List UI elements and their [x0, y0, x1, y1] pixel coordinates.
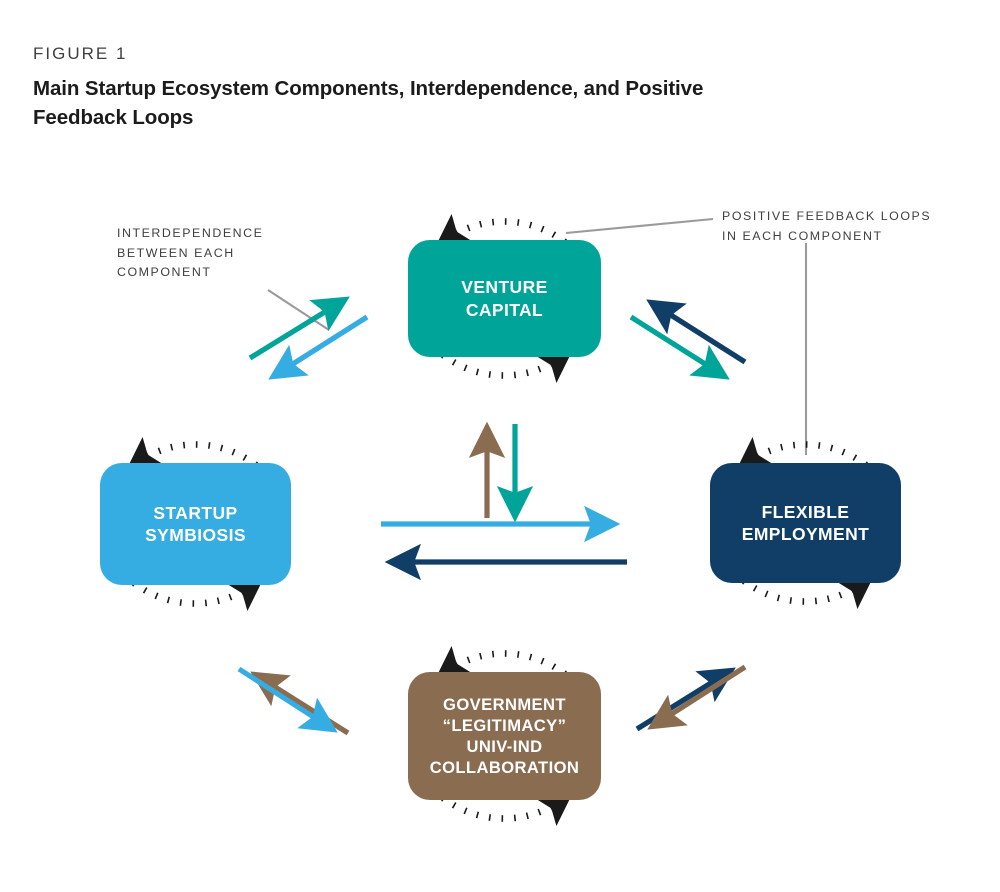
feedback-loop-ss-bottom-arc — [134, 583, 256, 604]
figure-label: FIGURE 1 — [33, 44, 127, 64]
node-startup-symbiosis-label: STARTUP SYMBIOSIS — [145, 502, 246, 547]
arrow-flexible-employment-to-government — [656, 667, 745, 724]
leader-line-interdependence — [268, 290, 329, 330]
arrow-startup-symbiosis-to-government — [239, 669, 329, 727]
node-flexible-employment[interactable]: FLEXIBLE EMPLOYMENT — [710, 463, 901, 583]
feedback-loop-fe-top-arc — [744, 444, 866, 465]
node-government-label: GOVERNMENT “LEGITIMACY” UNIV-IND COLLABO… — [430, 694, 580, 779]
arrow-government-to-flexible-employment — [637, 673, 727, 729]
feedback-loop-vc-bottom-arc — [443, 355, 565, 376]
feedback-loop-gov-top-arc — [443, 653, 565, 674]
node-government[interactable]: GOVERNMENT “LEGITIMACY” UNIV-IND COLLABO… — [408, 672, 601, 800]
arrow-venture-capital-to-flexible-employment — [631, 317, 721, 374]
figure-title: Main Startup Ecosystem Components, Inter… — [33, 74, 733, 132]
arrow-government-to-startup-symbiosis — [259, 677, 348, 733]
arrow-startup-symbiosis-to-venture-capital — [250, 302, 341, 358]
leader-line-feedback-top — [566, 219, 713, 233]
arrow-venture-capital-to-startup-symbiosis — [277, 317, 367, 374]
node-flexible-employment-label: FLEXIBLE EMPLOYMENT — [742, 501, 869, 546]
feedback-loop-vc-top-arc — [443, 221, 565, 242]
figure-container: FIGURE 1 Main Startup Ecosystem Componen… — [0, 0, 1000, 892]
node-venture-capital-label: VENTURE CAPITAL — [461, 276, 547, 321]
annotation-interdependence: INTERDEPENDENCE BETWEEN EACH COMPONENT — [117, 224, 264, 283]
feedback-loop-ss-top-arc — [134, 444, 256, 465]
node-venture-capital[interactable]: VENTURE CAPITAL — [408, 240, 601, 357]
feedback-loop-fe-bottom-arc — [744, 581, 866, 602]
feedback-loop-gov-bottom-arc — [443, 798, 565, 819]
arrow-flexible-employment-to-venture-capital — [655, 305, 745, 362]
interdependence-arrows — [239, 302, 745, 733]
node-startup-symbiosis[interactable]: STARTUP SYMBIOSIS — [100, 463, 291, 585]
annotation-positive-feedback-loops: POSITIVE FEEDBACK LOOPS IN EACH COMPONEN… — [722, 207, 931, 246]
